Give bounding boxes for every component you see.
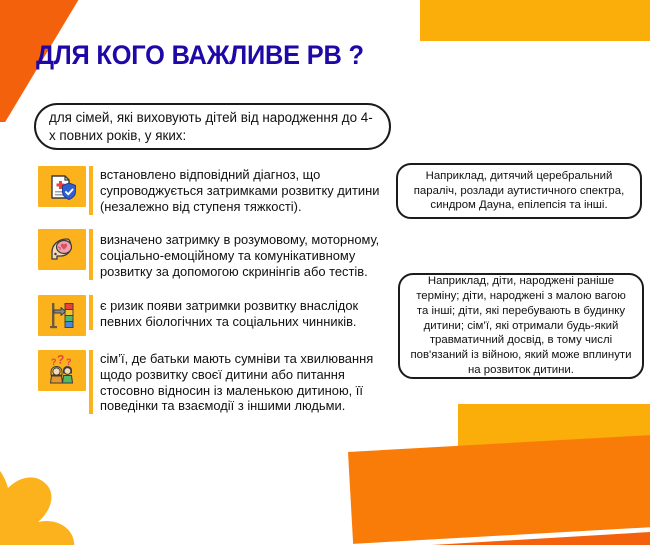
intro-callout-text: для сімей, які виховують дітей від народ…	[49, 109, 377, 143]
list-item: ? ? ? сім’ї, де батьки мають сумніви та …	[38, 350, 388, 415]
list-item: визначено затримку в розумовому, моторно…	[38, 229, 388, 280]
svg-text:?: ?	[57, 355, 64, 367]
note-callout-1-text: Наприклад, дитячий церебральний параліч,…	[406, 169, 632, 213]
list-item: встановлено відповідний діагноз, що супр…	[38, 166, 388, 215]
note-callout-1: Наприклад, дитячий церебральний параліч,…	[396, 163, 642, 219]
slide-canvas: ДЛЯ КОГО ВАЖЛИВЕ РВ ? для сімей, які вих…	[0, 0, 650, 545]
criteria-list: встановлено відповідний діагноз, що супр…	[38, 166, 388, 427]
decorative-rectangle-orange-bottom	[348, 434, 650, 544]
decorative-bar-top-right	[420, 0, 650, 41]
list-item-text: визначено затримку в розумовому, моторно…	[89, 229, 388, 280]
intro-callout: для сімей, які виховують дітей від народ…	[34, 103, 391, 150]
list-item: є ризик появи затримки розвитку внаслідо…	[38, 295, 388, 336]
page-title: ДЛЯ КОГО ВАЖЛИВЕ РВ ?	[36, 40, 364, 71]
parents-questions-icon: ? ? ?	[38, 350, 86, 391]
list-item-text: встановлено відповідний діагноз, що супр…	[89, 166, 388, 215]
head-brain-icon	[38, 229, 86, 270]
decorative-rectangle-amber-bottom	[458, 404, 650, 490]
note-callout-2-text: Наприклад, діти, народжені раніше термін…	[409, 274, 633, 378]
decorative-blob-bottom-left	[0, 458, 86, 545]
svg-text:?: ?	[51, 357, 57, 367]
list-item-text: є ризик появи затримки розвитку внаслідо…	[89, 295, 388, 330]
medical-record-shield-icon	[38, 166, 86, 207]
note-callout-2: Наприклад, діти, народжені раніше термін…	[398, 273, 644, 379]
growth-blocks-icon	[38, 295, 86, 336]
decorative-rectangle-deep-orange-bottom	[314, 531, 650, 545]
svg-text:?: ?	[66, 357, 72, 367]
list-item-text: сім’ї, де батьки мають сумніви та хвилюв…	[89, 350, 388, 415]
